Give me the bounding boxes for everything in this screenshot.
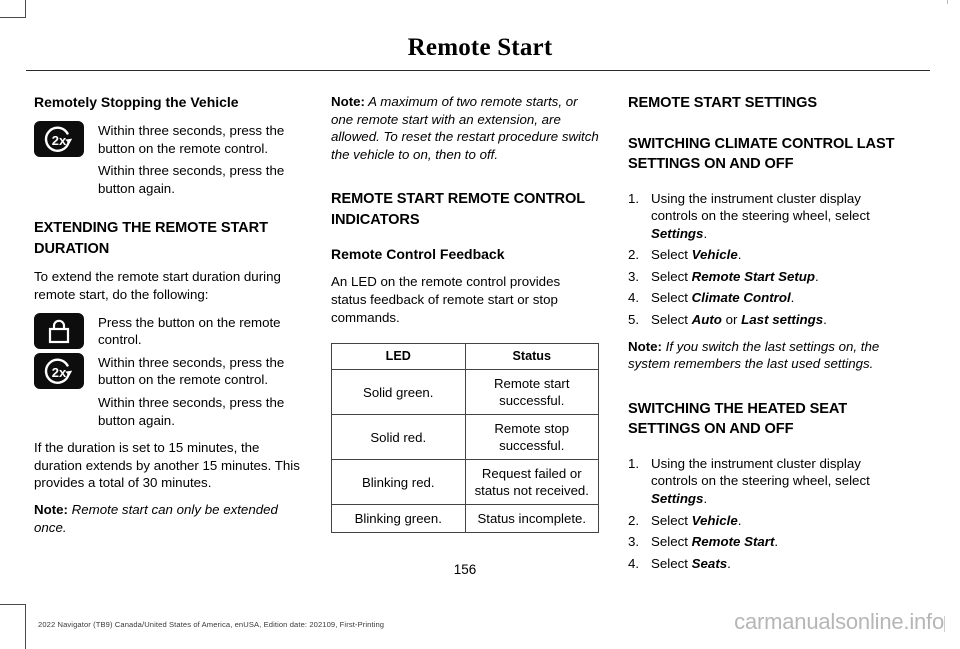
heading-remote-start-settings: REMOTE START SETTINGS bbox=[628, 93, 896, 114]
table-row: Blinking green. Status incomplete. bbox=[332, 505, 599, 533]
icon-placeholder bbox=[34, 393, 84, 429]
remote-2x-icon: 2x bbox=[34, 121, 84, 157]
list-item-number: 5. bbox=[628, 311, 639, 329]
note-label: Note: bbox=[628, 339, 662, 354]
list-item-number: 2. bbox=[628, 246, 639, 264]
list-item: 2.Select Vehicle. bbox=[628, 246, 896, 264]
icon-placeholder bbox=[34, 161, 84, 197]
list-item-label: Select Remote Start. bbox=[651, 534, 778, 549]
list-item-number: 4. bbox=[628, 289, 639, 307]
list-item-number: 3. bbox=[628, 268, 639, 286]
note-label: Note: bbox=[331, 94, 365, 109]
note-maximum-remote-starts: Note: A maximum of two remote starts, or… bbox=[331, 93, 599, 163]
step-text-remote-stop-2: Within three seconds, press the button a… bbox=[98, 161, 302, 197]
paragraph-duration: If the duration is set to 15 minutes, th… bbox=[34, 439, 302, 492]
list-item: 1.Using the instrument cluster display c… bbox=[628, 190, 896, 243]
list-item-label: Using the instrument cluster display con… bbox=[651, 191, 870, 241]
spacer bbox=[628, 382, 896, 399]
table-cell-led: Blinking green. bbox=[332, 505, 466, 533]
list-item-number: 3. bbox=[628, 533, 639, 551]
table-cell-status: Remote start successful. bbox=[465, 370, 599, 415]
table-header-row: LED Status bbox=[332, 344, 599, 370]
step-row-remote-stop-1: 2x Within three seconds, press the butto… bbox=[34, 121, 302, 157]
table-cell-led: Solid red. bbox=[332, 415, 466, 460]
list-item-label: Select Vehicle. bbox=[651, 247, 741, 262]
watermark: carmanualsonline.info bbox=[734, 609, 944, 635]
table-cell-status: Request failed or status not received. bbox=[465, 460, 599, 505]
step-row-extend-1: Press the button on the remote control. bbox=[34, 313, 302, 349]
heading-switching-heated-seat: SWITCHING THE HEATED SEAT SETTINGS ON AN… bbox=[628, 399, 896, 440]
list-item: 3.Select Remote Start. bbox=[628, 533, 896, 551]
heading-remote-control-indicators: REMOTE START REMOTE CONTROL INDICATORS bbox=[331, 189, 599, 230]
note-body: If you switch the last settings on, the … bbox=[628, 339, 879, 372]
note-extended-once: Note: Remote start can only be extended … bbox=[34, 501, 302, 536]
list-item: 5.Select Auto or Last settings. bbox=[628, 311, 896, 329]
step-text-remote-stop-1: Within three seconds, press the button o… bbox=[98, 121, 302, 157]
page-number: 156 bbox=[0, 562, 930, 577]
spacer bbox=[331, 172, 599, 189]
list-item-label: Select Vehicle. bbox=[651, 513, 741, 528]
list-item-label: Select Climate Control. bbox=[651, 290, 794, 305]
spacer bbox=[34, 201, 302, 218]
heading-extending-remote-start-duration: EXTENDING THE REMOTE START DURATION bbox=[34, 218, 302, 259]
paragraph-extend-intro: To extend the remote start duration duri… bbox=[34, 268, 302, 303]
list-item-number: 2. bbox=[628, 512, 639, 530]
heated-seat-steps: 1.Using the instrument cluster display c… bbox=[628, 455, 896, 573]
crop-mark-top-right bbox=[944, 0, 948, 4]
spacer bbox=[628, 123, 896, 134]
paragraph-led-feedback: An LED on the remote control provides st… bbox=[331, 273, 599, 326]
list-item-label: Select Remote Start Setup. bbox=[651, 269, 819, 284]
remote-2x-icon: 2x bbox=[34, 353, 84, 389]
heading-switching-climate-control: SWITCHING CLIMATE CONTROL LAST SETTINGS … bbox=[628, 134, 896, 175]
header-divider bbox=[26, 70, 930, 71]
step-row-extend-2: 2x Within three seconds, press the butto… bbox=[34, 353, 302, 389]
column-middle: Note: A maximum of two remote starts, or… bbox=[331, 93, 599, 533]
crop-mark-top-left bbox=[0, 0, 26, 18]
note-body: A maximum of two remote starts, or one r… bbox=[331, 94, 599, 162]
spacer bbox=[331, 335, 599, 341]
list-item-number: 1. bbox=[628, 455, 639, 473]
crop-mark-bottom-left bbox=[0, 604, 26, 649]
list-item-label: Select Auto or Last settings. bbox=[651, 312, 827, 327]
list-item-number: 1. bbox=[628, 190, 639, 208]
crop-mark-bottom-right bbox=[944, 616, 948, 632]
table-cell-led: Solid green. bbox=[332, 370, 466, 415]
column-right: REMOTE START SETTINGS SWITCHING CLIMATE … bbox=[628, 93, 896, 581]
list-item: 4.Select Climate Control. bbox=[628, 289, 896, 307]
table-cell-status: Remote stop successful. bbox=[465, 415, 599, 460]
heading-remotely-stopping-the-vehicle: Remotely Stopping the Vehicle bbox=[34, 93, 302, 112]
note-label: Note: bbox=[34, 502, 68, 517]
heading-remote-control-feedback: Remote Control Feedback bbox=[331, 245, 599, 264]
list-item: 2.Select Vehicle. bbox=[628, 512, 896, 530]
table-cell-status: Status incomplete. bbox=[465, 505, 599, 533]
table-row: Solid green. Remote start successful. bbox=[332, 370, 599, 415]
column-left: Remotely Stopping the Vehicle 2x Within … bbox=[34, 93, 302, 545]
note-last-settings: Note: If you switch the last settings on… bbox=[628, 338, 896, 373]
table-row: Solid red. Remote stop successful. bbox=[332, 415, 599, 460]
note-body: Remote start can only be extended once. bbox=[34, 502, 278, 535]
step-text-extend-2: Within three seconds, press the button o… bbox=[98, 353, 302, 389]
step-row-remote-stop-2: Within three seconds, press the button a… bbox=[34, 161, 302, 197]
led-status-table: LED Status Solid green. Remote start suc… bbox=[331, 343, 599, 533]
list-item-label: Using the instrument cluster display con… bbox=[651, 456, 870, 506]
lock-icon bbox=[34, 313, 84, 349]
table-header-led: LED bbox=[332, 344, 466, 370]
table-cell-led: Blinking red. bbox=[332, 460, 466, 505]
climate-control-steps: 1.Using the instrument cluster display c… bbox=[628, 190, 896, 329]
table-header-status: Status bbox=[465, 344, 599, 370]
svg-text:2x: 2x bbox=[52, 133, 67, 148]
footer-edition-note: 2022 Navigator (TB9) Canada/United State… bbox=[38, 620, 384, 629]
svg-text:2x: 2x bbox=[52, 365, 67, 380]
step-text-extend-1: Press the button on the remote control. bbox=[98, 313, 302, 349]
list-item: 1.Using the instrument cluster display c… bbox=[628, 455, 896, 508]
table-row: Blinking red. Request failed or status n… bbox=[332, 460, 599, 505]
step-row-extend-3: Within three seconds, press the button a… bbox=[34, 393, 302, 429]
page-title: Remote Start bbox=[0, 34, 960, 62]
step-text-extend-3: Within three seconds, press the button a… bbox=[98, 393, 302, 429]
list-item: 3.Select Remote Start Setup. bbox=[628, 268, 896, 286]
